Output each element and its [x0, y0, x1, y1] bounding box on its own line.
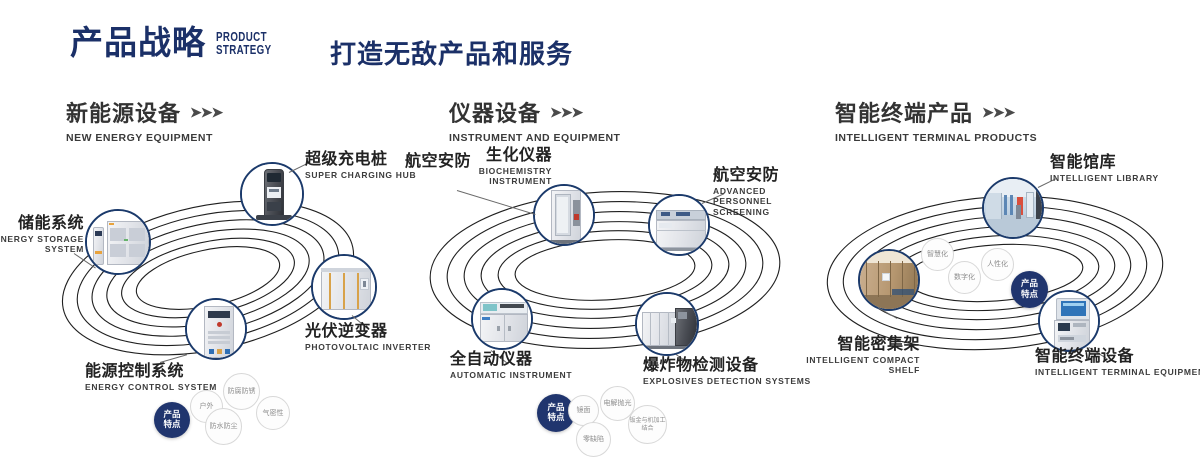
- automatic-analyzer-icon: [473, 290, 531, 348]
- feature-bubble-anticorrosion: 防腐防锈: [223, 373, 260, 410]
- chevron-right-icon: ➤➤➤: [982, 105, 1014, 119]
- node-label-cn: 储能系统: [0, 214, 84, 232]
- page-title: 产品战略: [70, 26, 206, 59]
- node-label-cn: 能源控制系统: [85, 362, 217, 380]
- node-intelligent-library[interactable]: [982, 177, 1044, 239]
- cluster-intelligent-terminal-products: 智慧化 数字化 人性化 产品 特点 智能馆库 INTELLIGENT LIBRA…: [790, 155, 1200, 400]
- feature-bubble-humanized: 人性化: [981, 248, 1014, 281]
- node-label-en: INTELLIGENT LIBRARY: [1050, 173, 1159, 184]
- node-label-en: ENERGY CONTROL SYSTEM: [85, 382, 217, 393]
- node-explosives-detection-systems[interactable]: [635, 292, 699, 356]
- section-title-intelligent: 智能终端产品 ➤➤➤ INTELLIGENT TERMINAL PRODUCTS: [835, 96, 1037, 144]
- feature-bubble-sheetmetal-machining: 钣金与机加工结合: [628, 405, 667, 444]
- core-bubble-line1: 产品: [1021, 279, 1038, 289]
- self-service-kiosk-icon: [1040, 292, 1098, 350]
- page-tagline: 打造无敌产品和服务: [330, 34, 573, 71]
- cluster-instrument-and-equipment: 产品 特点 镜面 电解抛光 零缺陷 钣金与机加工结合 航空安防 生化仪器 BIO…: [395, 150, 815, 400]
- explosive-detector-icon: [637, 294, 697, 354]
- node-label-en: EXPLOSIVES DETECTION SYSTEMS: [643, 376, 811, 387]
- node-label-cn: 生化仪器: [447, 146, 552, 164]
- chevron-right-icon: ➤➤➤: [550, 105, 582, 119]
- label-intelligent-library: 智能馆库 INTELLIGENT LIBRARY: [1050, 153, 1159, 183]
- label-intelligent-terminal-equipment: 智能终端设备 INTELLIGENT TERMINAL EQUIPMENT: [1035, 347, 1200, 377]
- node-label-cn: 智能终端设备: [1035, 347, 1200, 365]
- node-intelligent-terminal-equipment[interactable]: [1038, 290, 1100, 352]
- node-energy-control-system[interactable]: [185, 298, 247, 360]
- energy-storage-cabinet-icon: [87, 211, 149, 273]
- node-label-en: INTELLIGENT COMPACT SHELF: [780, 355, 920, 376]
- node-label-cn: 智能馆库: [1050, 153, 1159, 171]
- chevron-right-icon: ➤➤➤: [190, 105, 222, 119]
- page-header: 产品战略 PRODUCT STRATEGY: [70, 26, 287, 59]
- compact-shelf-icon: [860, 251, 918, 309]
- section-title-cn: 新能源设备: [66, 96, 181, 128]
- label-energy-control-system: 能源控制系统 ENERGY CONTROL SYSTEM: [85, 362, 217, 392]
- page-title-english-line2: STRATEGY: [216, 44, 271, 57]
- core-bubble-product-features: 产品 特点: [154, 402, 190, 438]
- node-energy-storage-system[interactable]: [85, 209, 151, 275]
- label-intelligent-compact-shelf: 智能密集架 INTELLIGENT COMPACT SHELF: [780, 335, 920, 376]
- section-title-instrument: 仪器设备 ➤➤➤ INSTRUMENT AND EQUIPMENT: [449, 96, 620, 144]
- inverter-cabinet-icon: [313, 256, 375, 318]
- feature-bubble-digital: 数字化: [948, 261, 981, 294]
- feature-bubble-waterproof: 防水防尘: [205, 408, 242, 445]
- core-bubble-line1: 产品: [163, 410, 180, 420]
- cluster-new-energy-equipment: 产品 特点 户外 防腐防锈 防水防尘 气密性 储能系统 ENERGY STORA…: [0, 150, 420, 400]
- page-title-english: PRODUCT STRATEGY: [216, 31, 271, 57]
- section-title-cn: 仪器设备: [449, 96, 541, 128]
- node-label-en: AUTOMATIC INSTRUMENT: [450, 370, 572, 381]
- node-intelligent-compact-shelf[interactable]: [858, 249, 920, 311]
- node-label-en: BIOCHEMISTRY INSTRUMENT: [447, 166, 552, 187]
- node-automatic-instrument[interactable]: [471, 288, 533, 350]
- core-bubble-line1: 产品: [547, 403, 564, 413]
- section-title-en: NEW ENERGY EQUIPMENT: [66, 132, 222, 144]
- node-photovoltaic-inverter[interactable]: [311, 254, 377, 320]
- feature-bubble-airtight: 气密性: [256, 396, 290, 430]
- smart-archive-room-icon: [984, 179, 1042, 237]
- charging-pile-icon: [242, 164, 302, 224]
- node-biochemistry-instrument[interactable]: [533, 184, 595, 246]
- section-title-new-energy: 新能源设备 ➤➤➤ NEW ENERGY EQUIPMENT: [66, 96, 222, 144]
- section-title-en: INTELLIGENT TERMINAL PRODUCTS: [835, 132, 1037, 144]
- screening-machine-icon: [650, 196, 708, 254]
- node-super-charging-hub[interactable]: [240, 162, 304, 226]
- label-energy-storage-system: 储能系统 ENERGY STORAGE SYSTEM: [0, 214, 84, 255]
- node-label-en: ENERGY STORAGE SYSTEM: [0, 234, 84, 255]
- section-title-cn: 智能终端产品: [835, 96, 973, 128]
- node-label-en: INTELLIGENT TERMINAL EQUIPMENT: [1035, 367, 1200, 378]
- biochemistry-scanner-icon: [535, 186, 593, 244]
- label-biochemistry-instrument: 生化仪器 BIOCHEMISTRY INSTRUMENT: [447, 146, 552, 187]
- section-title-en: INSTRUMENT AND EQUIPMENT: [449, 132, 620, 144]
- node-label-cn: 全自动仪器: [450, 350, 572, 368]
- node-label-cn: 智能密集架: [780, 335, 920, 353]
- label-automatic-instrument: 全自动仪器 AUTOMATIC INSTRUMENT: [450, 350, 572, 380]
- feature-bubble-zero-defect: 零缺陷: [576, 422, 611, 457]
- core-bubble-line2: 特点: [1021, 290, 1038, 300]
- feature-bubble-intelligent: 智慧化: [921, 238, 954, 271]
- node-advanced-personnel-screening[interactable]: [648, 194, 710, 256]
- control-cabinet-icon: [187, 300, 245, 358]
